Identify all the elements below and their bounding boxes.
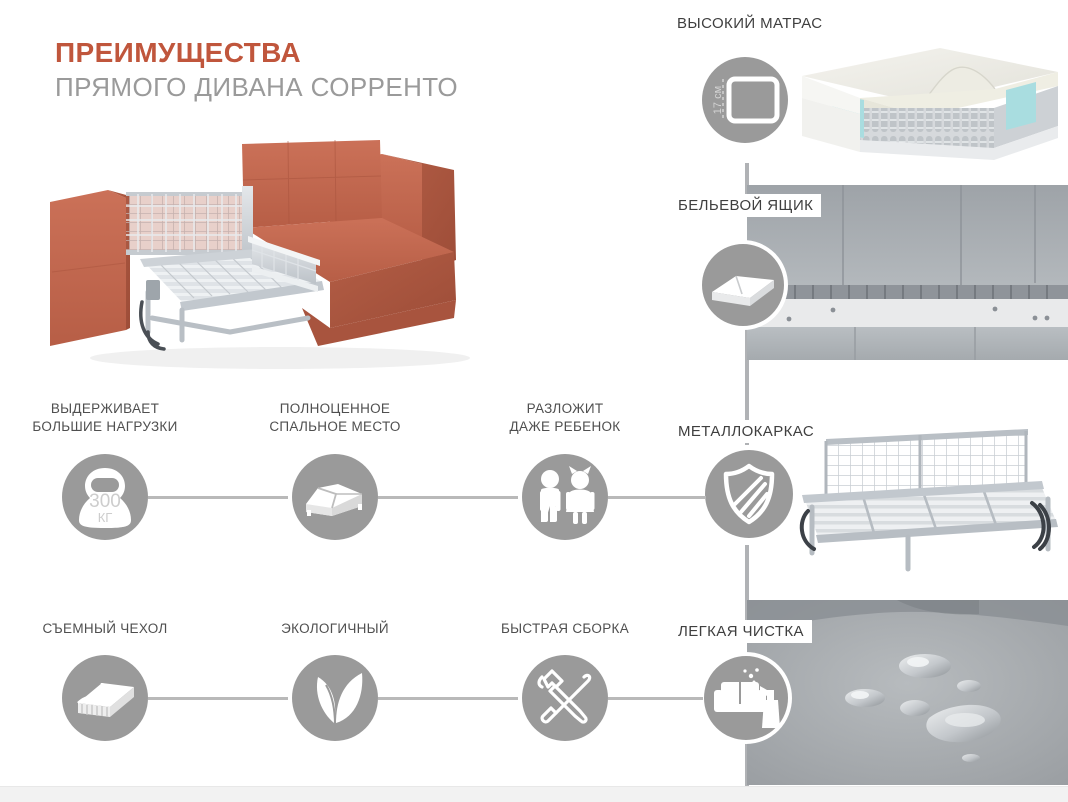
connector-row1-c [608,496,706,499]
bottom-strip [0,786,1068,802]
leaves-icon [292,655,378,741]
page-title: ПРЕИМУЩЕСТВА ПРЯМОГО ДИВАНА СОРРЕНТО [55,38,458,103]
panel-label-linen-box: БЕЛЬЕВОЙ ЯЩИК [676,194,821,217]
feature-label-child-unfold: РАЗЛОЖИТ ДАЖЕ РЕБЕНОК [465,400,665,436]
mattress-height-icon: 17 см [702,57,788,143]
panel-label-metal-frame: МЕТАЛЛОКАРКАС [676,420,822,443]
connector-row2-b [378,697,518,700]
linen-box-icon [698,240,788,330]
hammer-screwdriver-icon [522,655,608,741]
kettlebell-weight: 300 [89,491,121,512]
panel-label-mattress: ВЫСОКИЙ МАТРАС [675,12,831,35]
connector-row2-c [608,697,703,700]
hero-sofa-image [30,132,510,377]
kettlebell-unit: КГ [98,510,113,525]
feature-label-load: ВЫДЕРЖИВАЕТ БОЛЬШИЕ НАГРУЗКИ [5,400,205,436]
feature-label-fast-assembly: БЫСТРАЯ СБОРКА [465,620,665,638]
mattress-measure-text: 17 см [712,86,724,114]
feature-label-eco: ЭКОЛОГИЧНЫЙ [235,620,435,638]
mattress-cutaway-photo [790,42,1068,167]
feature-label-removable-cover: СЪЕМНЫЙ ЧЕХОЛ [5,620,205,638]
connector-row1-b [378,496,518,499]
mattress-cover-icon [62,655,148,741]
kettlebell-icon: 300 КГ [62,454,148,540]
feature-label-sleeping-place: ПОЛНОЦЕННОЕ СПАЛЬНОЕ МЕСТО [235,400,435,436]
bed-icon [292,454,378,540]
connector-row1-a [148,496,288,499]
infographic-canvas: ПРЕИМУЩЕСТВА ПРЯМОГО ДИВАНА СОРРЕНТО [0,0,1068,801]
panel-label-easy-clean: ЛЕГКАЯ ЧИСТКА [676,620,812,643]
title-muted-line: ПРЯМОГО ДИВАНА СОРРЕНТО [55,73,458,103]
metal-frame-photo [790,425,1068,580]
children-icon [522,454,608,540]
shield-icon [705,450,793,538]
title-accent-line: ПРЕИМУЩЕСТВА [55,38,458,67]
connector-row2-a [148,697,288,700]
sofa-spray-icon [700,652,792,744]
